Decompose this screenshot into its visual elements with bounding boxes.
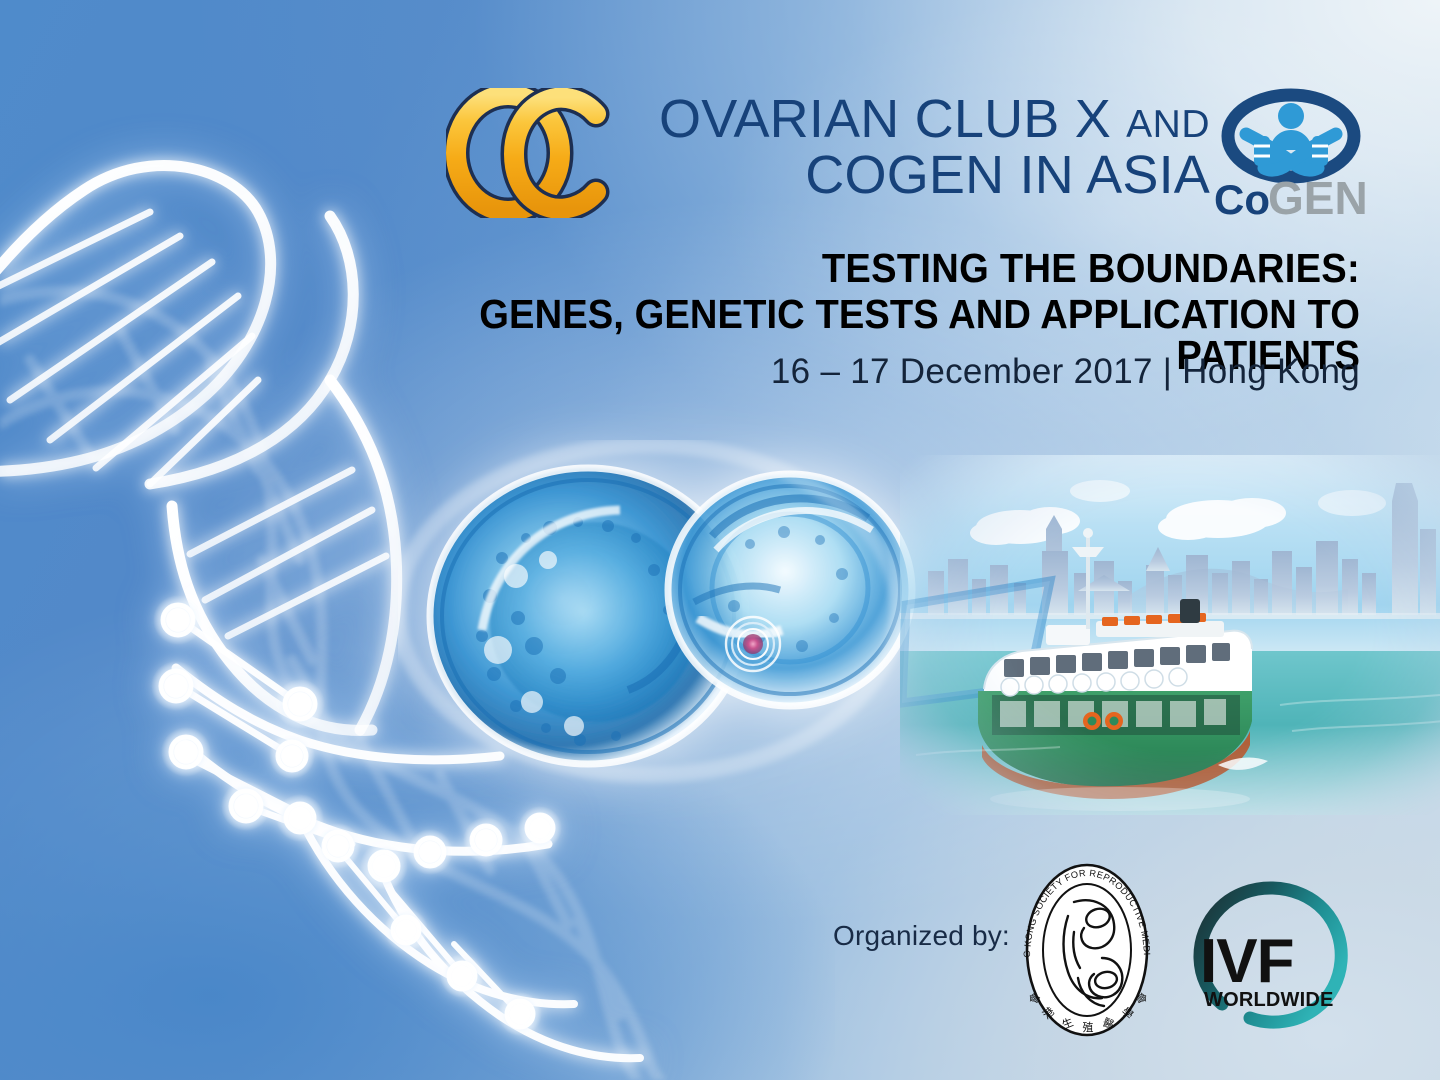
dividing-embryo-micrograph	[398, 440, 918, 790]
organized-by-label: Organized by:	[833, 920, 1010, 952]
svg-text:殖: 殖	[1083, 1021, 1094, 1034]
ovarian-club-monogram	[446, 88, 616, 218]
ivf-worldwide-subtext: WORLDWIDE	[1204, 989, 1334, 1011]
cogen-wordmark-co: Co	[1214, 176, 1270, 222]
cogen-wordmark-gen: GEN	[1268, 172, 1368, 222]
conference-poster: OVARIAN CLUB X AND COGEN IN ASIA	[0, 0, 1440, 1080]
event-title-line-1: OVARIAN CLUB X AND	[618, 92, 1210, 148]
event-dateline: 16 – 17 December 2017 | Hong Kong	[460, 352, 1360, 392]
cogen-logo: Co GEN	[1202, 88, 1380, 222]
hksrm-logo: HONG KONG SOCIETY FOR REPRODUCTIVE MEDIC…	[1016, 858, 1158, 1042]
hong-kong-harbour-photo	[900, 455, 1440, 815]
event-title-main: OVARIAN CLUB X	[659, 89, 1111, 149]
event-title-line-2: COGEN IN ASIA	[618, 148, 1210, 204]
ivf-worldwide-logo: IVF WORLDWIDE	[1186, 878, 1366, 1030]
event-title-conjunction: AND	[1126, 103, 1210, 146]
cogen-ring-icon	[1228, 95, 1354, 177]
ivf-wordmark: IVF	[1200, 927, 1293, 996]
headline-line-1: TESTING THE BOUNDARIES:	[430, 248, 1360, 289]
event-title: OVARIAN CLUB X AND COGEN IN ASIA	[618, 92, 1210, 203]
